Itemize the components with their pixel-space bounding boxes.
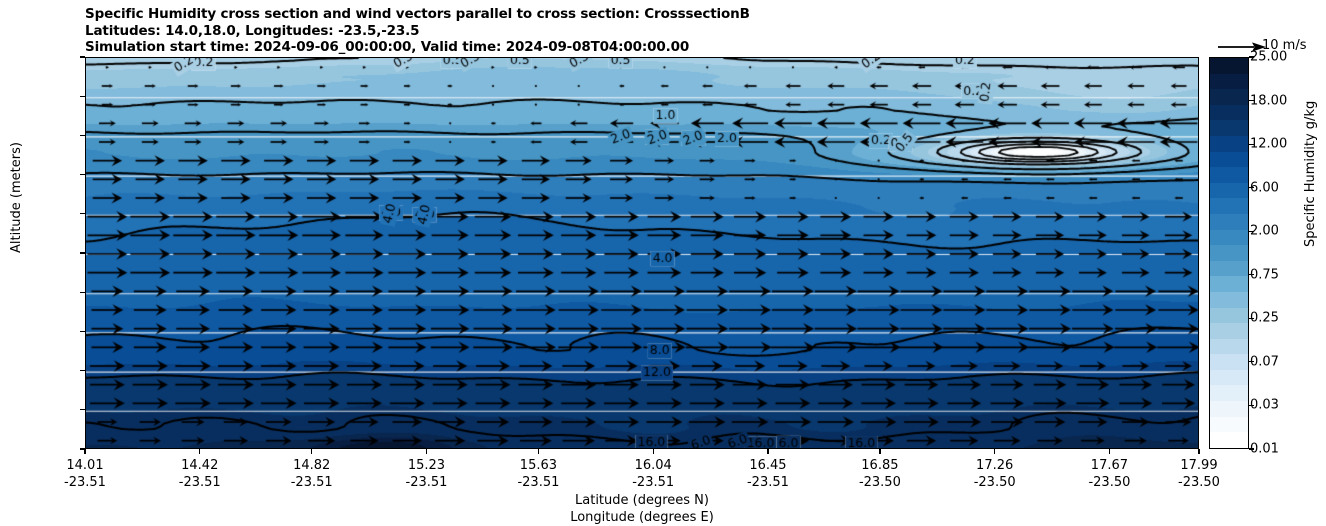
colorbar-segment	[1210, 432, 1248, 448]
colorbar-segment	[1210, 261, 1248, 277]
x-axis-tick-mark	[994, 449, 995, 454]
colorbar-segment	[1210, 105, 1248, 121]
figure-root: Specific Humidity cross section and wind…	[0, 0, 1326, 526]
x-axis-tick-mark	[538, 449, 539, 454]
title-line-1: Specific Humidity cross section and wind…	[85, 6, 750, 23]
title-line-3: Simulation start time: 2024-09-06_00:00:…	[85, 39, 750, 56]
longitude-tick-value: -23.50	[1178, 474, 1220, 491]
colorbar-tick-label: 0.03	[1250, 398, 1279, 413]
y-axis-tick-mark	[80, 213, 85, 214]
title-line-2: Latitudes: 14.0,18.0, Longitudes: -23.5,…	[85, 23, 750, 40]
latitude-tick-value: 16.04	[632, 457, 674, 474]
colorbar-segment	[1210, 120, 1248, 136]
x-axis-tick-label: 17.26-23.50	[974, 457, 1016, 491]
longitude-tick-value: -23.50	[974, 474, 1016, 491]
colorbar-segment	[1210, 385, 1248, 401]
y-axis-tick-mark	[80, 370, 85, 371]
longitude-tick-value: -23.51	[517, 474, 559, 491]
x-axis-tick-label: 17.99-23.50	[1178, 457, 1220, 491]
x-axis-tick-label: 16.45-23.51	[747, 457, 789, 491]
colorbar-tick-label: 18.00	[1250, 93, 1287, 108]
latitude-tick-value: 14.82	[291, 457, 333, 474]
x-axis-label-latitude: Latitude (degrees N)	[575, 493, 709, 508]
cross-section-plot-area	[85, 57, 1199, 449]
x-axis-tick-mark	[653, 449, 654, 454]
x-axis-tick-mark	[767, 449, 768, 454]
colorbar-tick-mark	[1249, 405, 1254, 406]
colorbar-tick-mark	[1249, 187, 1254, 188]
colorbar-segment	[1210, 417, 1248, 433]
longitude-tick-value: -23.51	[632, 474, 674, 491]
y-axis-tick-mark	[80, 135, 85, 136]
y-axis-tick-mark	[80, 292, 85, 293]
colorbar-tick-label: 25.00	[1250, 50, 1287, 65]
colorbar-tick-mark	[1249, 144, 1254, 145]
x-axis-tick-mark	[879, 449, 880, 454]
colorbar-segment	[1210, 152, 1248, 168]
latitude-tick-value: 16.85	[859, 457, 901, 474]
humidity-contour-canvas	[86, 58, 1199, 449]
y-axis-label: Altitude (meters)	[9, 142, 24, 253]
latitude-tick-value: 15.63	[517, 457, 559, 474]
colorbar-segment	[1210, 74, 1248, 90]
x-axis-tick-label: 16.04-23.51	[632, 457, 674, 491]
colorbar	[1209, 57, 1249, 449]
colorbar-segment	[1210, 198, 1248, 214]
colorbar-tick-mark	[1249, 231, 1254, 232]
x-axis-tick-label: 16.85-23.50	[859, 457, 901, 491]
y-axis-tick-mark	[80, 331, 85, 332]
colorbar-segment	[1210, 214, 1248, 230]
colorbar-segment	[1210, 136, 1248, 152]
colorbar-tick-label: 0.07	[1250, 354, 1279, 369]
x-axis-tick-label: 14.82-23.51	[291, 457, 333, 491]
latitude-tick-value: 17.67	[1088, 457, 1130, 474]
colorbar-tick-label: 6.00	[1250, 180, 1279, 195]
colorbar-tick-label: 2.00	[1250, 224, 1279, 239]
colorbar-segment	[1210, 230, 1248, 246]
colorbar-segment	[1210, 167, 1248, 183]
colorbar-tick-label: 0.25	[1250, 311, 1279, 326]
latitude-tick-value: 15.23	[406, 457, 448, 474]
longitude-tick-value: -23.51	[179, 474, 221, 491]
colorbar-tick-mark	[1249, 274, 1254, 275]
y-axis-tick-mark	[80, 174, 85, 175]
x-axis-label-longitude: Longitude (degrees E)	[570, 510, 714, 525]
colorbar-tick-label: 0.75	[1250, 267, 1279, 282]
colorbar-segment	[1210, 370, 1248, 386]
colorbar-tick-label: 0.01	[1250, 442, 1279, 457]
x-axis-tick-mark	[84, 449, 85, 454]
x-axis-tick-mark	[1198, 449, 1199, 454]
colorbar-segment	[1210, 292, 1248, 308]
colorbar-segment	[1210, 89, 1248, 105]
colorbar-tick-mark	[1249, 56, 1254, 57]
x-axis-tick-label: 14.01-23.51	[64, 457, 106, 491]
colorbar-segment	[1210, 308, 1248, 324]
longitude-tick-value: -23.51	[291, 474, 333, 491]
colorbar-segment	[1210, 323, 1248, 339]
colorbar-segment	[1210, 245, 1248, 261]
colorbar-label: Specific Humidity g/kg	[1303, 101, 1318, 247]
x-axis-tick-mark	[1109, 449, 1110, 454]
colorbar-tick-label: 12.00	[1250, 137, 1287, 152]
y-axis-tick-mark	[80, 56, 85, 57]
colorbar-tick-mark	[1249, 100, 1254, 101]
colorbar-segment	[1210, 339, 1248, 355]
longitude-tick-value: -23.51	[747, 474, 789, 491]
x-axis-tick-mark	[199, 449, 200, 454]
latitude-tick-value: 17.99	[1178, 457, 1220, 474]
colorbar-tick-mark	[1249, 448, 1254, 449]
colorbar-segment	[1210, 354, 1248, 370]
colorbar-tick-mark	[1249, 318, 1254, 319]
x-axis-tick-mark	[426, 449, 427, 454]
colorbar-segment	[1210, 58, 1248, 74]
longitude-tick-value: -23.51	[64, 474, 106, 491]
latitude-tick-value: 14.01	[64, 457, 106, 474]
longitude-tick-value: -23.51	[406, 474, 448, 491]
y-axis-tick-mark	[80, 252, 85, 253]
x-axis-tick-label: 15.63-23.51	[517, 457, 559, 491]
colorbar-segment	[1210, 401, 1248, 417]
figure-title: Specific Humidity cross section and wind…	[85, 6, 750, 56]
colorbar-segment	[1210, 183, 1248, 199]
colorbar-segment	[1210, 276, 1248, 292]
longitude-tick-value: -23.50	[1088, 474, 1130, 491]
x-axis-tick-mark	[311, 449, 312, 454]
colorbar-tick-mark	[1249, 361, 1254, 362]
latitude-tick-value: 14.42	[179, 457, 221, 474]
y-axis-tick-mark	[80, 409, 85, 410]
y-axis-tick-mark	[80, 96, 85, 97]
latitude-tick-value: 17.26	[974, 457, 1016, 474]
x-axis-tick-label: 14.42-23.51	[179, 457, 221, 491]
x-axis-tick-label: 15.23-23.51	[406, 457, 448, 491]
latitude-tick-value: 16.45	[747, 457, 789, 474]
longitude-tick-value: -23.50	[859, 474, 901, 491]
x-axis-tick-label: 17.67-23.50	[1088, 457, 1130, 491]
